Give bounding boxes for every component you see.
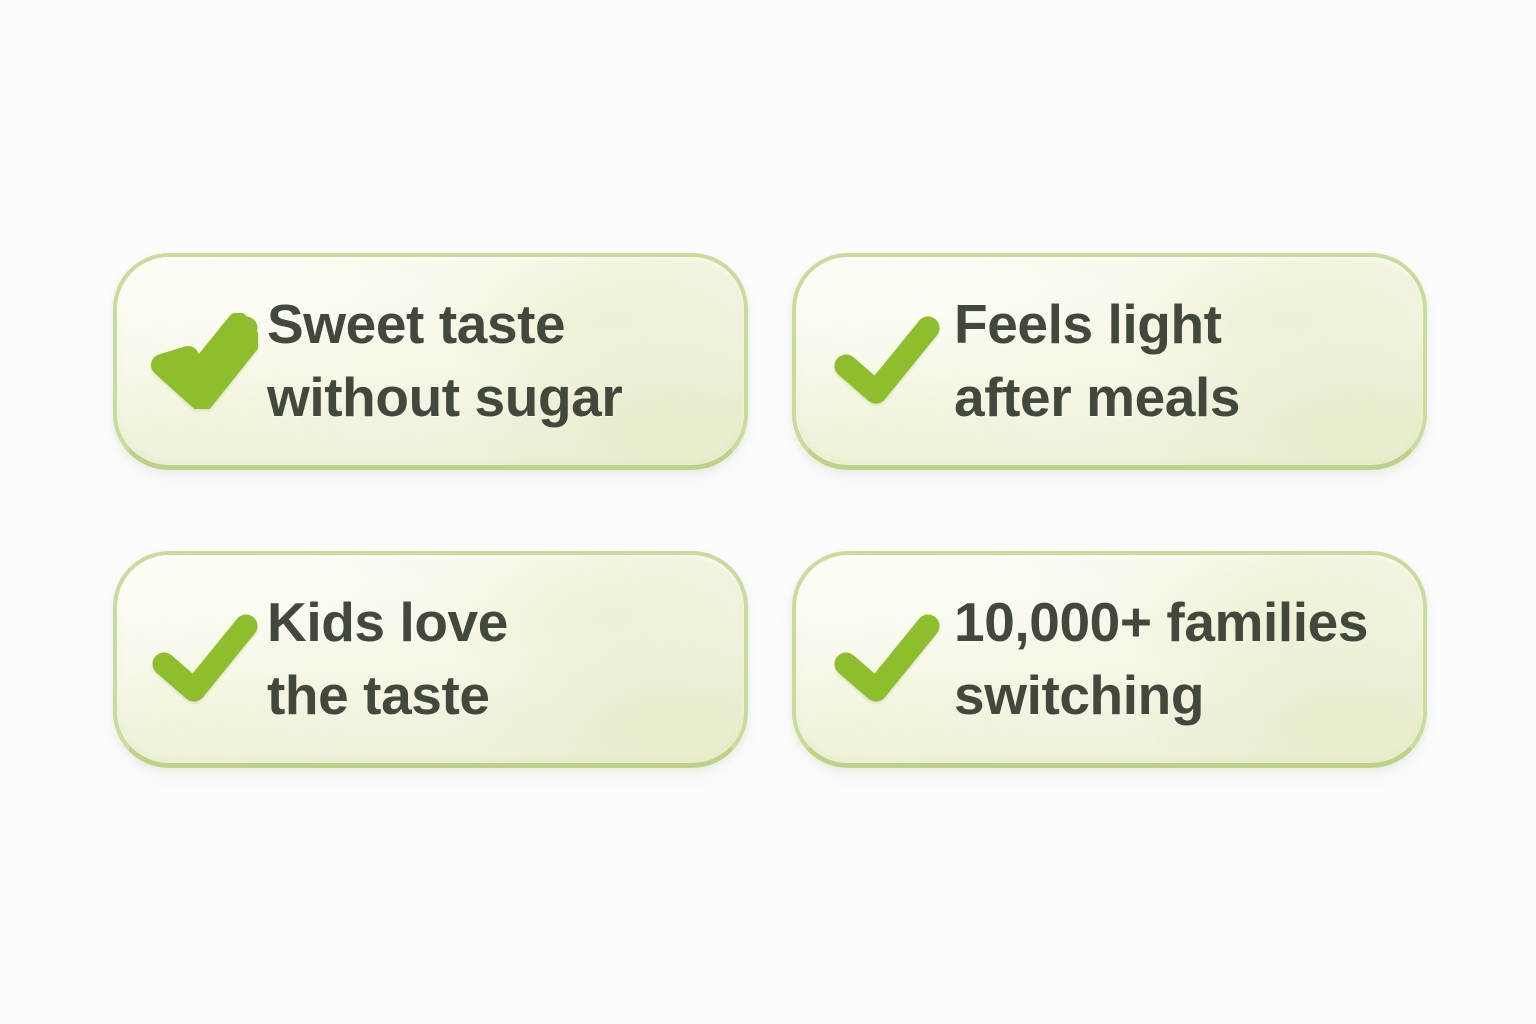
benefit-card-label: Kids love the taste — [267, 586, 508, 731]
benefit-card-label: 10,000+ families switching — [954, 586, 1368, 731]
benefit-card-grid: Sweet taste without sugar Feels light af… — [113, 253, 1427, 768]
check-icon — [828, 611, 944, 707]
benefit-card-families-switching[interactable]: 10,000+ families switching — [792, 551, 1427, 768]
benefit-card-label: Sweet taste without sugar — [267, 288, 622, 433]
benefit-card-kids-love-the-taste[interactable]: Kids love the taste — [113, 551, 748, 768]
benefit-card-label: Feels light after meals — [954, 288, 1240, 433]
check-icon — [145, 313, 263, 409]
benefit-card-feels-light-after-meals[interactable]: Feels light after meals — [792, 253, 1427, 470]
check-icon — [145, 611, 263, 707]
check-icon — [828, 313, 944, 409]
benefit-card-sweet-taste-without-sugar[interactable]: Sweet taste without sugar — [113, 253, 748, 470]
